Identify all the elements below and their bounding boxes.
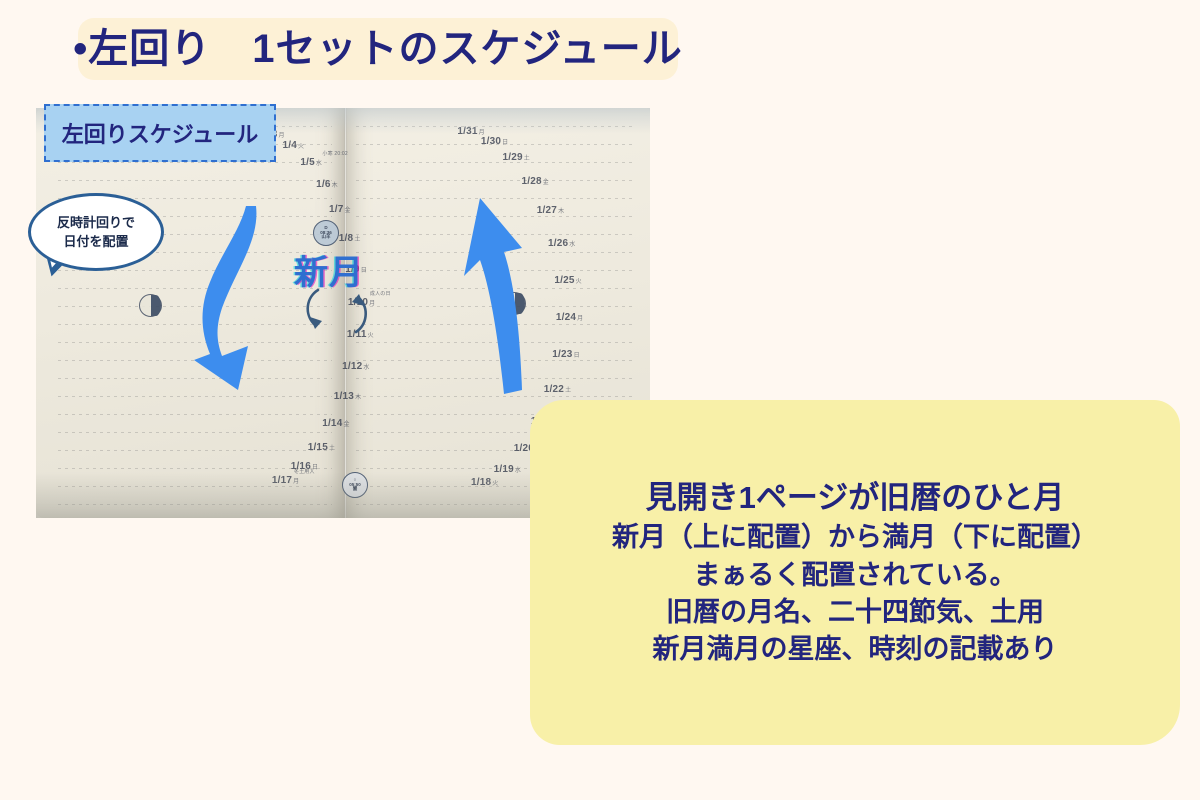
date-mark-label: 1/11 bbox=[347, 329, 367, 340]
date-mark-label: 1/12 bbox=[342, 361, 362, 372]
rule-line bbox=[356, 198, 634, 199]
date-mark: 1/14金 bbox=[322, 418, 349, 429]
new-moon-marker-top: D08:36山羊 bbox=[313, 220, 339, 246]
date-mark-label: 1/18 bbox=[471, 477, 491, 488]
date-mark-label: 1/23 bbox=[552, 349, 572, 360]
rule-line bbox=[356, 162, 634, 163]
rule-line bbox=[356, 234, 634, 235]
yellow-note-line-5: 新月満月の星座、時刻の記載あり bbox=[653, 631, 1058, 668]
date-mark-label: 1/22 bbox=[544, 384, 564, 395]
date-mark-label: 1/31 bbox=[457, 126, 477, 137]
date-mark-weekday: 月 bbox=[279, 133, 285, 139]
date-mark-weekday: 木 bbox=[355, 395, 361, 401]
date-mark: 1/15土 bbox=[308, 442, 335, 453]
new-moon-overlay-word: 新月 bbox=[294, 256, 364, 290]
date-mark-label: 1/14 bbox=[322, 418, 342, 429]
date-mark-label: 1/25 bbox=[554, 275, 574, 286]
page-title: •左回り 1セットのスケジュール bbox=[73, 29, 682, 69]
yellow-note-line-3: まぁるく配置されている。 bbox=[693, 557, 1016, 594]
yellow-note-line-4: 旧暦の月名、二十四節気、土用 bbox=[666, 594, 1044, 631]
rule-line bbox=[58, 378, 332, 379]
rule-line bbox=[356, 324, 634, 325]
rule-line bbox=[356, 126, 634, 127]
date-mark-label: 1/8 bbox=[339, 233, 354, 244]
date-mark-weekday: 水 bbox=[515, 468, 521, 474]
date-mark-label: 1/10 bbox=[348, 297, 368, 308]
date-mark: 1/7金 bbox=[329, 204, 351, 215]
schedule-label-box: 左回りスケジュール bbox=[44, 104, 276, 162]
rule-line bbox=[58, 162, 332, 163]
rule-line bbox=[58, 288, 332, 289]
rule-line bbox=[356, 180, 634, 181]
date-mark-weekday: 火 bbox=[368, 333, 374, 339]
date-mark-label: 1/30 bbox=[481, 136, 501, 147]
rule-line bbox=[356, 396, 634, 397]
yellow-note-line-2: 新月（上に配置）から満月（下に配置） bbox=[612, 519, 1098, 556]
rule-line bbox=[356, 288, 634, 289]
date-mark: 1/8土 bbox=[339, 233, 361, 244]
date-mark-weekday: 土 bbox=[329, 446, 335, 452]
rule-line bbox=[58, 306, 332, 307]
date-mark: 1/30日 bbox=[481, 136, 508, 147]
date-mark-label: 1/7 bbox=[329, 204, 344, 215]
date-mark-weekday: 土 bbox=[565, 388, 571, 394]
date-mark-note: 小寒 20:02 bbox=[322, 150, 348, 157]
date-mark: 1/25火 bbox=[554, 275, 581, 286]
schedule-label-text: 左回りスケジュール bbox=[62, 117, 258, 149]
date-mark: 1/5水小寒 20:02 bbox=[300, 157, 322, 168]
rule-line bbox=[356, 378, 634, 379]
date-mark: 1/18火 bbox=[471, 477, 498, 488]
rule-line bbox=[58, 324, 332, 325]
date-mark: 1/11火 bbox=[347, 329, 374, 340]
yellow-note-block: 見開き1ページが旧暦のひと月 新月（上に配置）から満月（下に配置） まぁるく配置… bbox=[530, 400, 1180, 745]
date-mark-label: 1/19 bbox=[494, 464, 514, 475]
rule-line bbox=[58, 486, 332, 487]
date-mark: 1/27木 bbox=[537, 205, 564, 216]
date-mark: 1/24月 bbox=[556, 312, 583, 323]
rule-line bbox=[58, 504, 332, 505]
rule-line bbox=[58, 342, 332, 343]
rule-line bbox=[356, 360, 634, 361]
date-mark: 1/29土 bbox=[503, 152, 530, 163]
date-mark-weekday: 日 bbox=[574, 353, 580, 359]
rule-line bbox=[356, 252, 634, 253]
date-mark-label: 1/5 bbox=[300, 157, 315, 168]
half-moon-marker-0110 bbox=[139, 294, 162, 317]
date-mark: 1/13木 bbox=[334, 391, 361, 402]
date-mark-weekday: 水 bbox=[569, 242, 575, 248]
date-mark: 1/4火 bbox=[283, 140, 305, 151]
date-mark: 1/17月冬土用入 bbox=[272, 475, 299, 486]
date-mark-note: 成人の日 bbox=[370, 290, 391, 297]
date-mark-weekday: 月 bbox=[577, 316, 583, 322]
date-mark-weekday: 月 bbox=[369, 301, 375, 307]
speech-bubble-line-1: 反時計回りで bbox=[57, 213, 135, 233]
date-mark-label: 1/17 bbox=[272, 475, 292, 486]
rule-line bbox=[58, 360, 332, 361]
date-mark: 1/10月成人の日 bbox=[348, 297, 375, 308]
speech-bubble-line-2: 日付を配置 bbox=[63, 232, 128, 252]
date-mark-weekday: 水 bbox=[363, 365, 369, 371]
date-mark: 1/23日 bbox=[552, 349, 579, 360]
notebook-left-page bbox=[36, 108, 345, 518]
moon-marker-label: D08:36山羊 bbox=[314, 221, 338, 245]
date-mark-label: 1/15 bbox=[308, 442, 328, 453]
date-mark-weekday: 火 bbox=[298, 144, 304, 150]
title-badge: •左回り 1セットのスケジュール bbox=[78, 18, 678, 80]
rule-line bbox=[356, 306, 634, 307]
date-mark: 1/28金 bbox=[522, 176, 549, 187]
speech-bubble: 反時計回りで 日付を配置 bbox=[28, 193, 164, 271]
date-mark-weekday: 金 bbox=[543, 180, 549, 186]
rule-line bbox=[356, 270, 634, 271]
rule-line bbox=[58, 450, 332, 451]
date-mark-label: 1/28 bbox=[522, 176, 542, 187]
date-mark-weekday: 木 bbox=[332, 183, 338, 189]
date-mark-weekday: 土 bbox=[524, 156, 530, 162]
full-moon-marker-0118: ○05:50蟹 bbox=[342, 472, 368, 498]
date-mark-label: 1/26 bbox=[548, 238, 568, 249]
date-mark-weekday: 火 bbox=[492, 481, 498, 487]
date-mark-weekday: 火 bbox=[576, 279, 582, 285]
date-mark: 1/26水 bbox=[548, 238, 575, 249]
rule-line bbox=[356, 342, 634, 343]
moon-marker-label: ○05:50蟹 bbox=[343, 473, 367, 497]
rule-line bbox=[58, 180, 332, 181]
rule-line bbox=[356, 216, 634, 217]
yellow-note-line-1: 見開き1ページが旧暦のひと月 bbox=[646, 477, 1065, 520]
date-mark-weekday: 金 bbox=[343, 422, 349, 428]
date-mark-label: 1/6 bbox=[316, 179, 331, 190]
date-mark: 1/19水 bbox=[494, 464, 521, 475]
date-mark-note: 冬土用入 bbox=[294, 468, 315, 475]
date-mark: 1/6木 bbox=[316, 179, 338, 190]
date-mark-weekday: 木 bbox=[558, 209, 564, 215]
rule-line bbox=[58, 432, 332, 433]
notebook-spine bbox=[344, 108, 347, 518]
date-mark-label: 1/13 bbox=[334, 391, 354, 402]
date-mark-label: 1/24 bbox=[556, 312, 576, 323]
date-mark-weekday: 日 bbox=[502, 140, 508, 146]
date-mark-label: 1/27 bbox=[537, 205, 557, 216]
rule-line bbox=[58, 396, 332, 397]
date-mark-label: 1/4 bbox=[283, 140, 298, 151]
date-mark-weekday: 土 bbox=[354, 237, 360, 243]
rule-line bbox=[58, 414, 332, 415]
half-moon-marker-0125 bbox=[503, 292, 526, 315]
date-mark-weekday: 水 bbox=[316, 161, 322, 167]
date-mark: 1/12水 bbox=[342, 361, 369, 372]
date-mark-weekday: 月 bbox=[293, 479, 299, 485]
date-mark-weekday: 金 bbox=[345, 208, 351, 214]
date-mark: 1/22土 bbox=[544, 384, 571, 395]
date-mark-label: 1/29 bbox=[503, 152, 523, 163]
